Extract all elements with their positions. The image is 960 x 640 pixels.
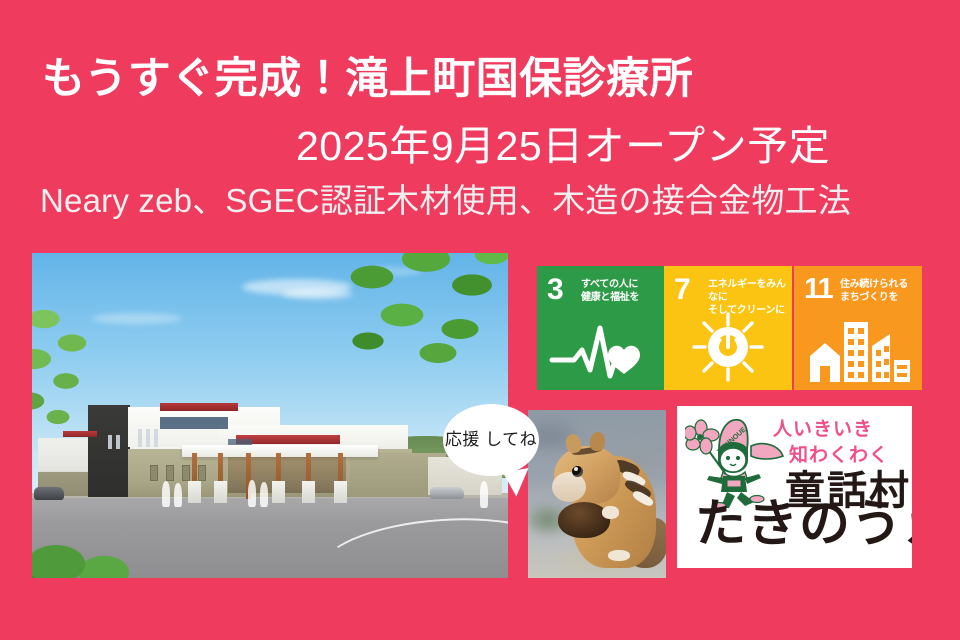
column-base [188,481,201,503]
chipmunk-cheek [552,472,586,502]
wooden-column [246,453,251,499]
speech-bubble-text: 応援 してね [445,429,537,450]
sky-background [32,253,508,578]
wooden-column [338,453,343,499]
chipmunk-head [554,446,620,504]
figure-person [260,482,268,507]
parked-car [34,487,64,500]
takinoue-mascot-logo: TAKINOUE 人いきいき 知わくわく 童話村 たきのうえ [677,406,912,568]
window-slot [138,429,142,447]
clinic-rendering-photo [32,253,508,578]
window-slot [108,435,112,449]
chipmunk-body [572,456,656,568]
sdg-label: すべての人に 健康と福祉を [581,278,661,304]
wooden-column [306,453,311,499]
low-window [166,465,174,481]
building-mid-block [92,413,222,497]
cloud-icon [242,279,352,295]
cloud-icon [362,267,422,276]
chipmunk-ear [564,433,583,455]
sdg-label: 住み続けられる まちづくりを [840,278,918,304]
entrance-glass [228,455,346,493]
heartbeat-icon [537,320,665,382]
column-base [334,481,347,503]
logo-tagline-1: 人いきいき [773,414,873,441]
sdg-goal-7: 7 エネルギーをみんなに そしてクリーンに [664,266,792,390]
bush-foreground [32,524,142,578]
wooden-column [218,453,223,499]
building-dark-tower [88,405,130,497]
wooden-column [276,453,281,499]
chipmunk-stripe [623,478,652,500]
cloud-icon [282,289,352,299]
cloud-icon [92,313,182,324]
figure-person [162,481,170,507]
parking-lot-ground [32,496,508,578]
building-upper-floor [218,425,408,449]
logo-title-sub: たきのうえ [695,498,912,549]
chipmunk-stripe-light [631,489,655,508]
nut-held [558,502,610,538]
sdg-goal-11: 11 住み続けられる まちづくりを [794,266,922,390]
city-buildings-icon [794,316,922,382]
window-band [160,417,228,429]
road-marking [315,510,508,578]
tree-foliage-right [342,253,508,391]
red-roof-accent [63,431,97,437]
chipmunk-tail [626,518,666,568]
sdg-number: 7 [674,275,691,305]
poster-canvas: もうすぐ完成！滝上町国保診療所 2025年9月25日オープン予定 Neary z… [0,0,960,640]
sdg-number: 11 [804,275,833,304]
column-base [302,481,315,503]
figure-person [480,481,488,508]
chipmunk-stripe [613,458,642,479]
window-slot [146,429,150,447]
building-wing-left [38,438,130,496]
column-base [272,481,285,503]
page-subtitle-line3: Neary zeb、SGEC認証木材使用、木造の接合金物工法 [40,183,851,219]
building-right-wall [350,453,446,497]
low-window [182,465,190,481]
chipmunk-paw [602,506,619,519]
low-window [198,465,206,481]
chipmunk-ear [589,431,606,452]
low-window [150,465,158,481]
red-roof-accent [236,435,340,444]
window-slot [154,429,158,447]
chipmunk-paw [608,550,630,561]
chipmunk-eye-highlight [574,467,578,471]
page-title-line1: もうすぐ完成！滝上町国保診療所 [42,56,693,103]
chipmunk-stripe-light [621,470,647,488]
red-roof-accent [160,403,238,411]
chipmunk-photo [528,410,666,578]
entrance-canopy-roof [182,445,378,457]
photo-background-blur [528,410,666,578]
curb-line [32,493,508,498]
chipmunk-head-stripe [572,446,603,456]
sdg-goal-3: 3 すべての人に 健康と福祉を [537,266,665,390]
page-title-line2: 2025年9月25日オープン予定 [296,124,830,169]
tree-foliage-left [32,305,106,455]
chipmunk-eye [572,466,583,477]
sun-power-icon [664,312,792,382]
building-main-wall [128,449,412,497]
speech-bubble: 応援 してね [443,404,539,476]
column-base [214,481,227,503]
figure-person [174,483,182,507]
figure-person [248,480,256,507]
wooden-column [192,453,197,499]
window-slot [116,435,120,449]
sdg-number: 3 [547,275,564,305]
window-band [228,439,252,449]
building-upper-floor [128,407,280,447]
parked-car [430,487,464,499]
